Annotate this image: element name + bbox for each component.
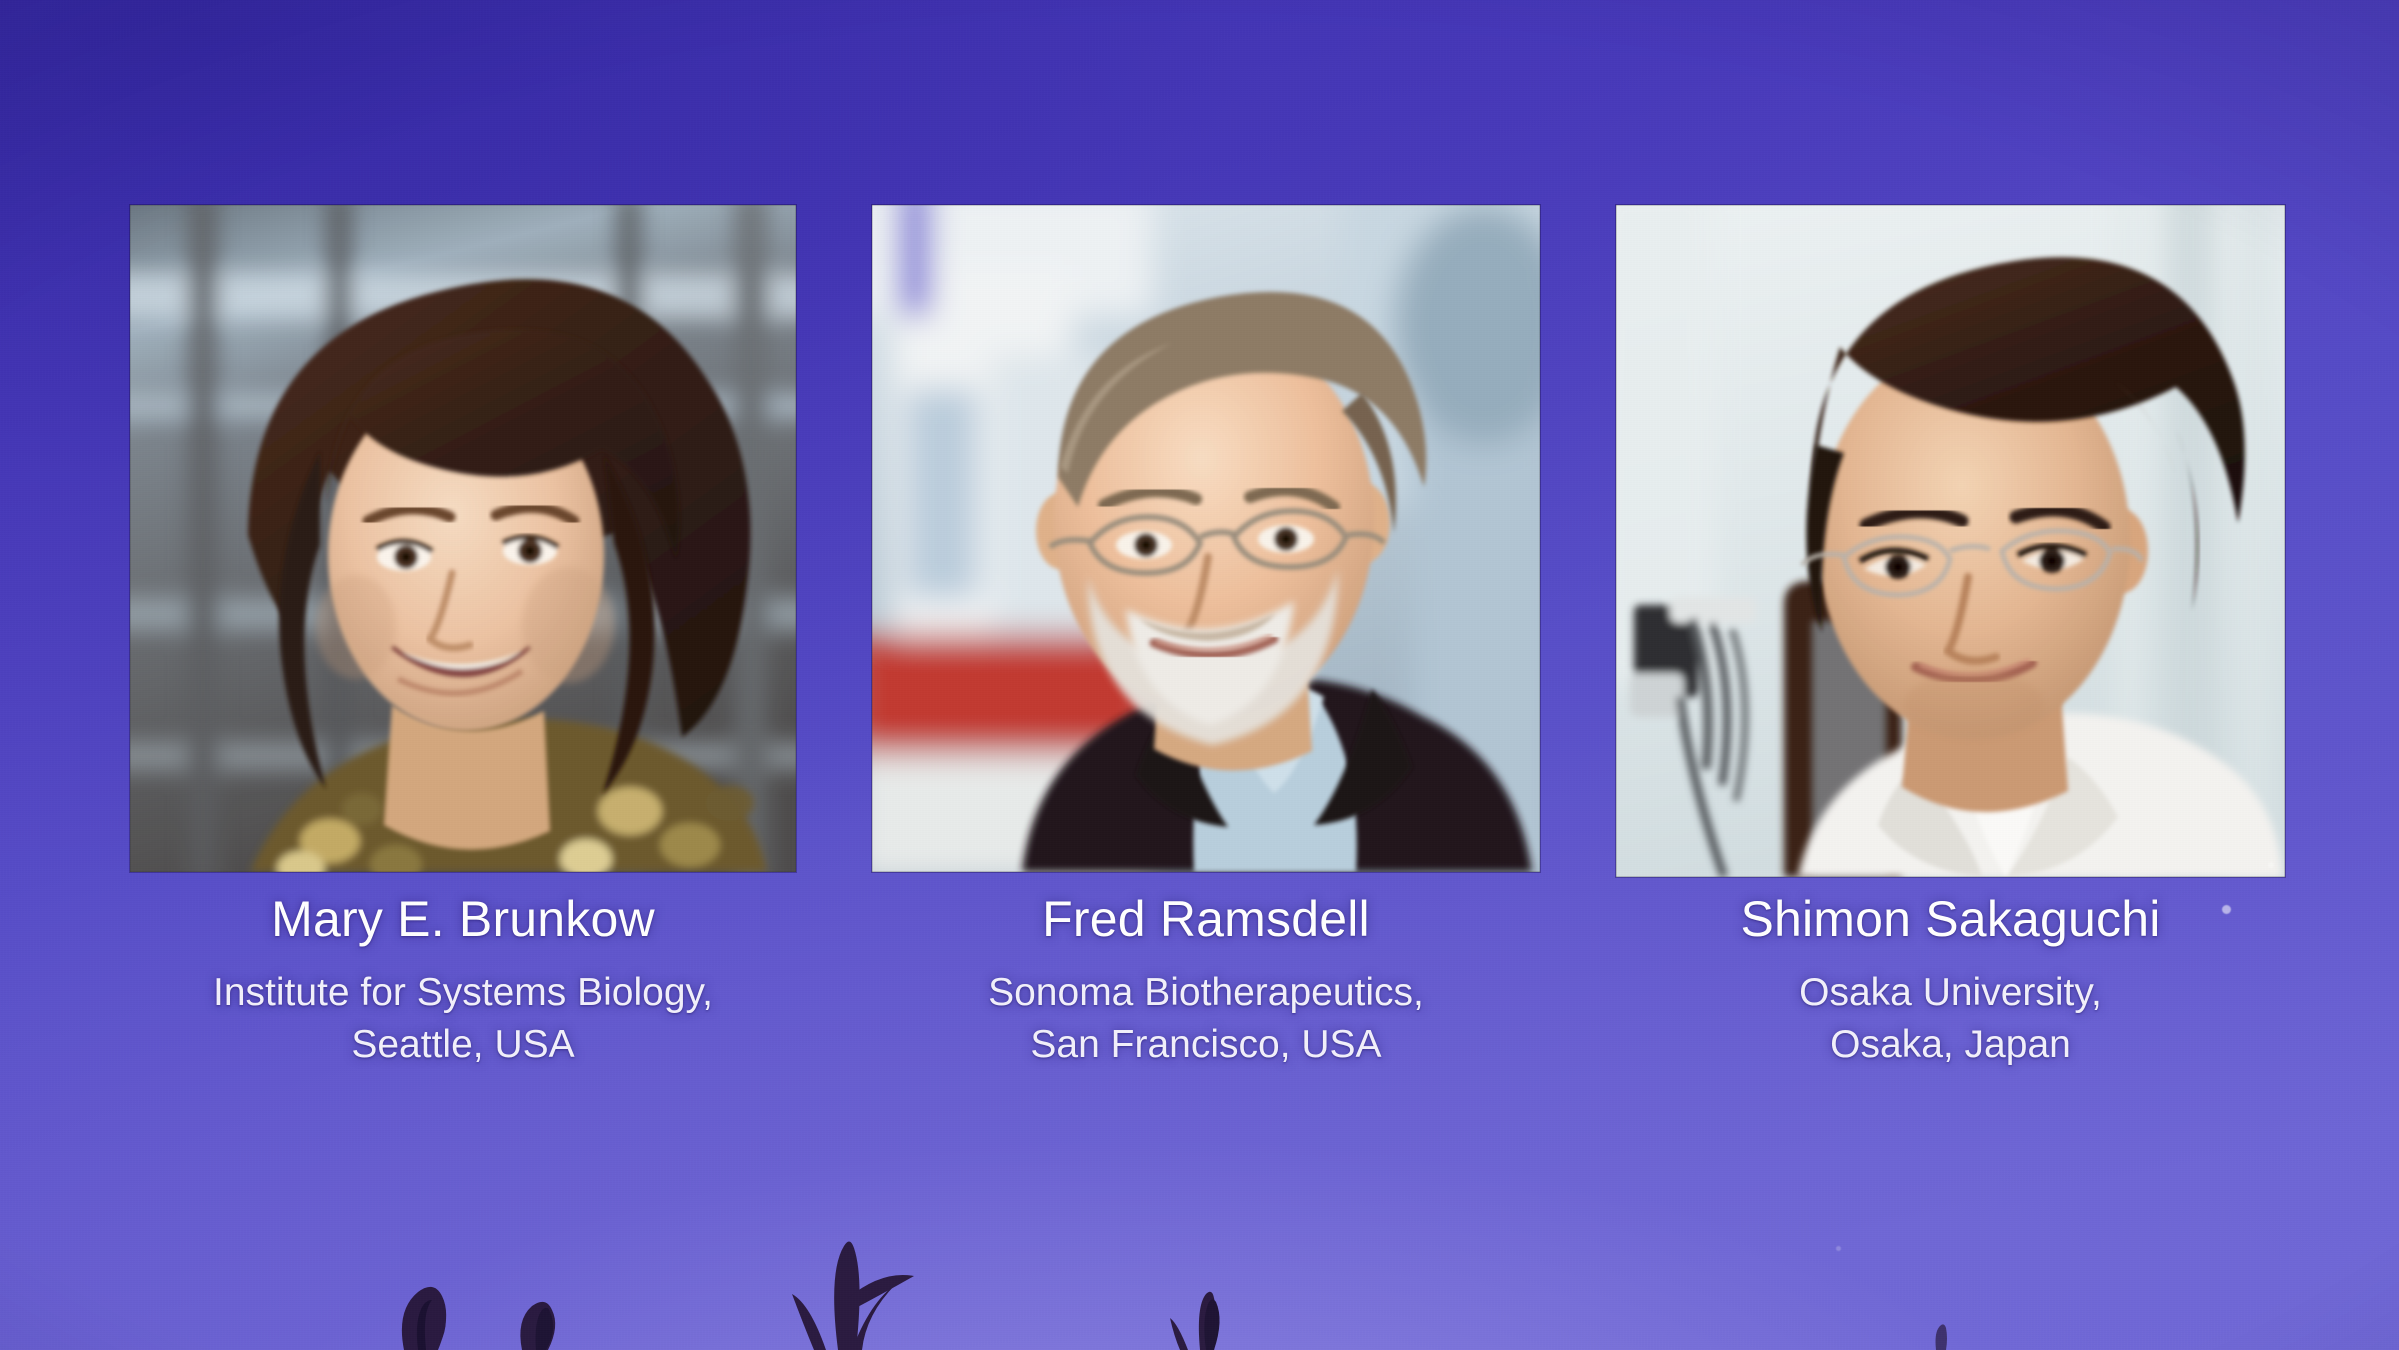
laureate-affiliation-2: Sonoma Biotherapeutics, San Francisco, U…	[812, 967, 1600, 1071]
portrait-image-brunkow	[130, 205, 796, 872]
laureate-photo-3	[1616, 205, 2285, 877]
dust-speck	[2268, 862, 2274, 868]
laureate-photo-2	[872, 205, 1540, 872]
dust-speck	[2222, 905, 2231, 914]
laureate-caption-2: Fred Ramsdell Sonoma Biotherapeutics, Sa…	[812, 893, 1600, 1071]
affiliation-line-2a: Sonoma Biotherapeutics,	[812, 967, 1600, 1019]
laureate-name-1: Mary E. Brunkow	[70, 893, 856, 945]
portrait-image-sakaguchi	[1616, 205, 2285, 877]
affiliation-line-3a: Osaka University,	[1556, 967, 2345, 1019]
dust-speck	[1836, 1246, 1841, 1251]
laureate-caption-3: Shimon Sakaguchi Osaka University, Osaka…	[1556, 893, 2345, 1071]
portrait-image-ramsdell	[872, 205, 1540, 872]
laureate-photo-1	[130, 205, 796, 872]
laureate-name-3: Shimon Sakaguchi	[1556, 893, 2345, 945]
laureate-name-2: Fred Ramsdell	[812, 893, 1600, 945]
affiliation-line-1a: Institute for Systems Biology,	[70, 967, 856, 1019]
affiliation-line-3b: Osaka, Japan	[1556, 1019, 2345, 1071]
laureate-caption-1: Mary E. Brunkow Institute for Systems Bi…	[70, 893, 856, 1071]
affiliation-line-2b: San Francisco, USA	[812, 1019, 1600, 1071]
laureate-affiliation-1: Institute for Systems Biology, Seattle, …	[70, 967, 856, 1071]
laureate-affiliation-3: Osaka University, Osaka, Japan	[1556, 967, 2345, 1071]
presentation-screen: Mary E. Brunkow Institute for Systems Bi…	[0, 0, 2399, 1350]
affiliation-line-1b: Seattle, USA	[70, 1019, 856, 1071]
